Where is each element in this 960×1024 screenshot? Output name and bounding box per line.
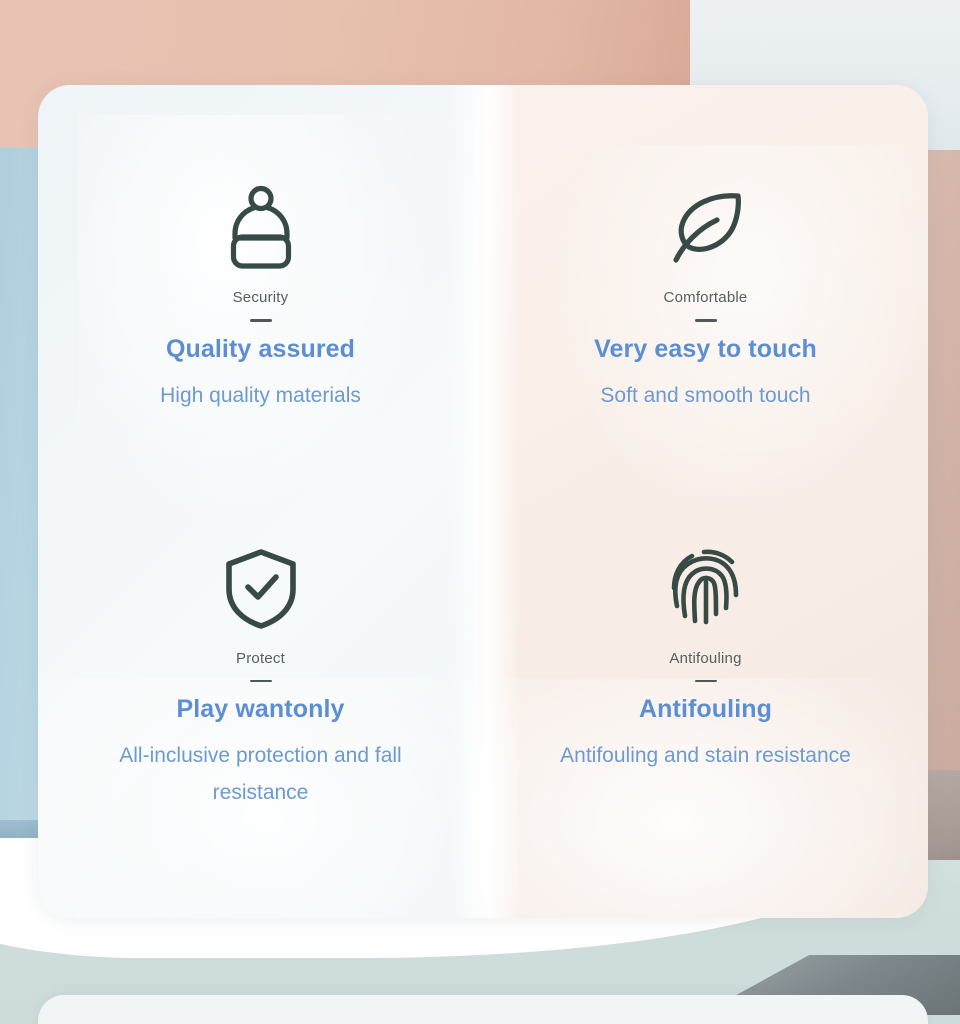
feature-item-protect: Protect Play wantonly All-inclusive prot… — [38, 502, 483, 919]
feature-description: Antifouling and stain resistance — [560, 738, 851, 775]
next-card-preview — [38, 995, 928, 1024]
feature-kicker: Comfortable — [664, 289, 748, 306]
feature-divider — [695, 319, 717, 322]
feature-divider — [250, 680, 272, 683]
feature-title: Quality assured — [166, 334, 355, 365]
feature-divider — [250, 319, 272, 322]
feature-description: All-inclusive protection and fall resist… — [96, 738, 426, 812]
feature-item-security: Security Quality assured High quality ma… — [38, 85, 483, 502]
feature-title: Play wantonly — [176, 694, 344, 725]
feature-description: High quality materials — [160, 378, 361, 415]
leaf-icon — [660, 181, 752, 273]
feature-divider — [695, 680, 717, 683]
feature-grid: Security Quality assured High quality ma… — [38, 85, 928, 918]
feature-kicker: Protect — [236, 650, 285, 667]
baby-bottle-icon — [215, 181, 307, 273]
feature-card: Security Quality assured High quality ma… — [38, 85, 928, 918]
feature-item-comfortable: Comfortable Very easy to touch Soft and … — [483, 85, 928, 502]
feature-kicker: Antifouling — [669, 650, 741, 667]
feature-title: Very easy to touch — [594, 334, 817, 365]
feature-description: Soft and smooth touch — [600, 378, 810, 415]
fingerprint-icon — [660, 542, 752, 634]
feature-title: Antifouling — [639, 694, 772, 725]
feature-item-antifouling: Antifouling Antifouling Antifouling and … — [483, 502, 928, 919]
feature-kicker: Security — [233, 289, 289, 306]
screenshot-stage: Security Quality assured High quality ma… — [0, 0, 960, 1024]
shield-check-icon — [215, 542, 307, 634]
